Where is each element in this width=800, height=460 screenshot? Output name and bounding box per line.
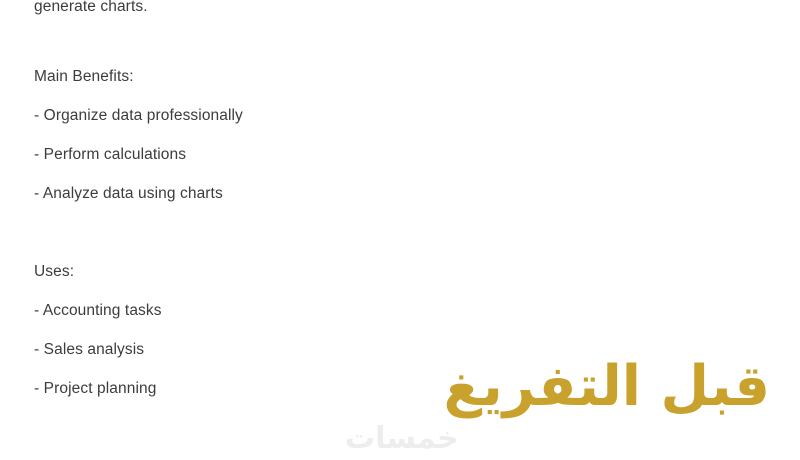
- document-text-body: generate charts. Main Benefits: - Organi…: [34, 0, 454, 408]
- document-heading-main-benefits: Main Benefits:: [34, 57, 454, 96]
- document-line-generate-charts: generate charts.: [34, 0, 454, 18]
- document-bullet-organize-data: - Organize data professionally: [34, 96, 454, 135]
- document-line-blank-2: [34, 213, 454, 252]
- site-watermark: خمسات: [345, 424, 459, 454]
- document-page: generate charts. Main Benefits: - Organi…: [0, 0, 800, 460]
- document-line-blank-1: [34, 18, 454, 57]
- document-bullet-sales-analysis: - Sales analysis: [34, 330, 454, 369]
- document-bullet-project-planning: - Project planning: [34, 369, 454, 408]
- document-bullet-analyze-data: - Analyze data using charts: [34, 174, 454, 213]
- document-heading-uses: Uses:: [34, 252, 454, 291]
- document-bullet-accounting-tasks: - Accounting tasks: [34, 291, 454, 330]
- document-bullet-perform-calculations: - Perform calculations: [34, 135, 454, 174]
- gold-caption-overlay: قبل التفريغ: [443, 359, 770, 415]
